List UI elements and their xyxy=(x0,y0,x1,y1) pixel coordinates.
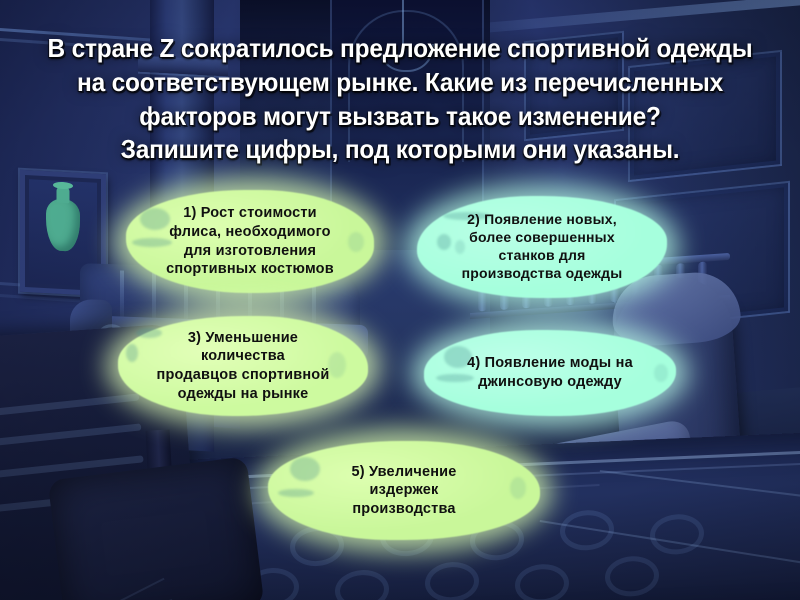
answer-bubble-2[interactable]: 2) Появление новых, более совершенных ст… xyxy=(417,196,667,298)
answer-text-3: 3) Уменьшение количества продавцов спорт… xyxy=(141,329,346,403)
answer-bubble-3[interactable]: 3) Уменьшение количества продавцов спорт… xyxy=(118,316,368,416)
question-title: В стране Z сократилось предложение спорт… xyxy=(24,32,776,167)
answer-text-2: 2) Появление новых, более совершенных ст… xyxy=(446,211,639,283)
answer-text-4: 4) Появление моды на джинсовую одежду xyxy=(451,354,649,391)
answer-text-5: 5) Увеличение издержек производства xyxy=(335,463,472,519)
answer-bubble-4[interactable]: 4) Появление моды на джинсовую одежду xyxy=(424,330,676,416)
slide-canvas: В стране Z сократилось предложение спорт… xyxy=(0,0,800,600)
answer-bubble-1[interactable]: 1) Рост стоимости флиса, необходимого дл… xyxy=(126,190,374,293)
answer-text-1: 1) Рост стоимости флиса, необходимого дл… xyxy=(150,204,350,278)
answer-bubble-5[interactable]: 5) Увеличение издержек производства xyxy=(268,441,540,540)
